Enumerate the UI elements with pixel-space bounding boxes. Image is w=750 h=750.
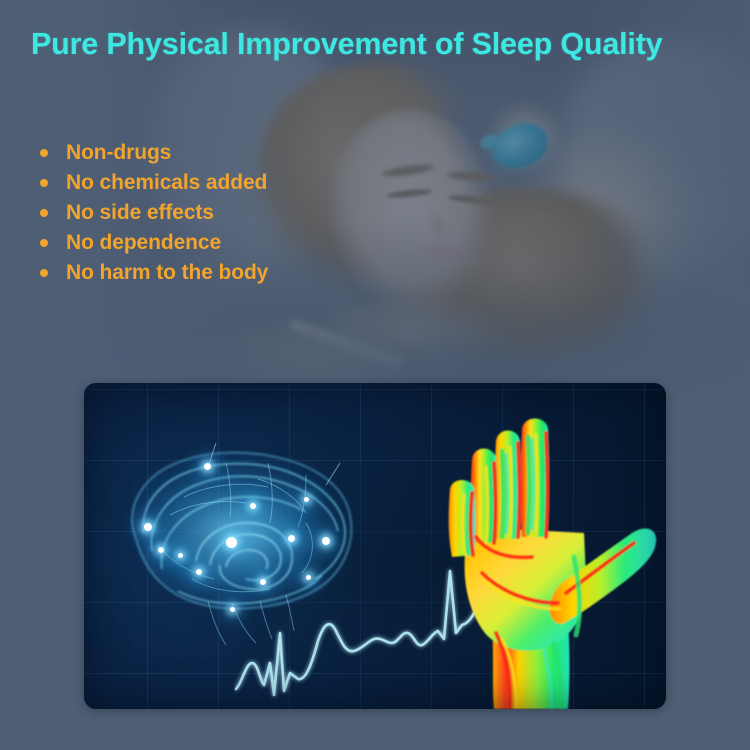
list-item: No chemicals added (40, 168, 268, 198)
bullet-dot-icon (40, 209, 48, 217)
poster-canvas: Pure Physical Improvement of Sleep Quali… (0, 0, 750, 750)
benefit-label: No harm to the body (66, 261, 268, 285)
benefit-label: No side effects (66, 201, 214, 225)
neuron-node (250, 503, 256, 509)
neuron-node (196, 569, 202, 575)
benefit-label: No dependence (66, 231, 221, 255)
bullet-dot-icon (40, 269, 48, 277)
bullet-dot-icon (40, 179, 48, 187)
neuron-node (204, 463, 211, 470)
list-item: No side effects (40, 198, 268, 228)
bullet-dot-icon (40, 239, 48, 247)
neuron-node (144, 523, 152, 531)
page-title: Pure Physical Improvement of Sleep Quali… (31, 26, 721, 62)
neuron-node (178, 553, 183, 558)
list-item: No harm to the body (40, 258, 268, 288)
technology-panel (84, 383, 666, 709)
bullet-dot-icon (40, 149, 48, 157)
list-item: Non-drugs (40, 138, 268, 168)
benefits-list: Non-drugs No chemicals added No side eff… (40, 138, 268, 288)
benefit-label: No chemicals added (66, 171, 267, 195)
neuron-node (304, 497, 309, 502)
list-item: No dependence (40, 228, 268, 258)
thermal-hand-icon (436, 407, 666, 709)
neuron-node (158, 547, 164, 553)
benefit-label: Non-drugs (66, 141, 171, 165)
